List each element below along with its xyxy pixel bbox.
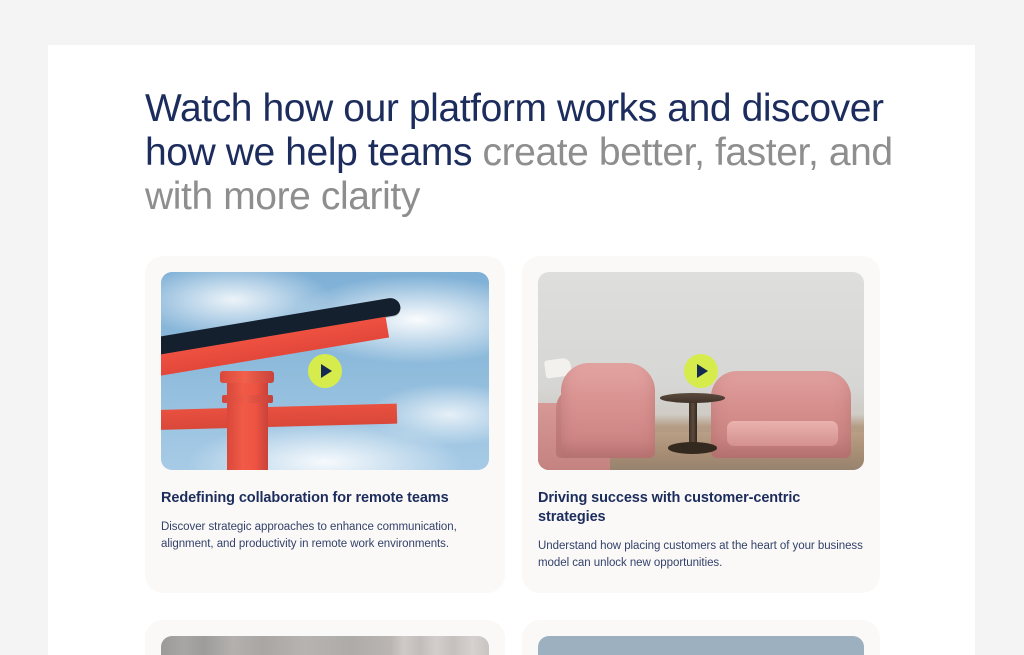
thumbnail-image-curtain [161,636,489,655]
video-thumbnail-customer-centric[interactable] [538,272,864,470]
video-card-grid: Redefining collaboration for remote team… [145,256,880,655]
page-canvas: Watch how our platform works and discove… [0,0,1024,655]
video-thumbnail-remote-teams[interactable] [161,272,489,470]
sofa-cushion [727,421,838,447]
side-table-top [660,393,725,403]
video-card-title: Driving success with customer-centric st… [538,489,864,527]
torii-pillar [227,371,268,470]
torii-collar-lower [222,395,273,403]
play-triangle-icon [321,364,332,378]
play-icon[interactable] [684,354,718,388]
page-title: Watch how our platform works and discove… [145,87,905,219]
video-card-third[interactable] [145,620,505,655]
video-card-customer-centric[interactable]: Driving success with customer-centric st… [522,256,880,593]
play-icon[interactable] [308,354,342,388]
video-card-title: Redefining collaboration for remote team… [161,489,489,508]
video-thumbnail-third[interactable] [161,636,489,655]
video-card-description: Discover strategic approaches to enhance… [161,519,489,552]
video-card-fourth[interactable] [522,620,880,655]
torii-collar-upper [220,371,274,383]
side-table-stem [689,399,697,447]
video-thumbnail-fourth[interactable] [538,636,864,655]
play-triangle-icon [697,364,708,378]
video-card-description: Understand how placing customers at the … [538,538,864,571]
torii-lower-beam [161,403,397,429]
content-panel: Watch how our platform works and discove… [48,45,975,655]
sofa-armchair [561,363,656,458]
thumbnail-image-bluegrey [538,636,864,655]
video-card-remote-teams[interactable]: Redefining collaboration for remote team… [145,256,505,593]
